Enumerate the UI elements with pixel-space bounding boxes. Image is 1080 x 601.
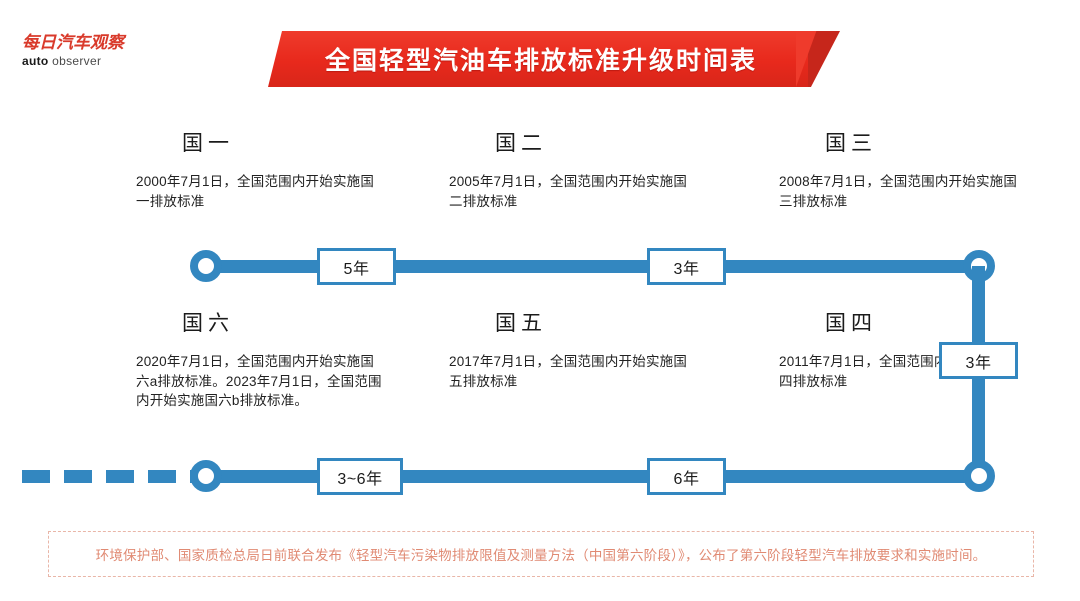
milestone-guo-yi: 国一 2000年7月1日，全国范围内开始实施国一排放标准 — [136, 127, 386, 211]
brand-logo-chinese: 每日汽车观察 — [22, 33, 152, 52]
milestone-guo-san: 国三 2008年7月1日，全国范围内开始实施国三排放标准 — [779, 127, 1029, 211]
milestone-guo-yi-title: 国一 — [136, 127, 386, 157]
interval-box-4-5: 6年 — [647, 458, 726, 495]
interval-box-3-4: 3年 — [939, 342, 1018, 379]
milestone-guo-san-body: 2008年7月1日，全国范围内开始实施国三排放标准 — [779, 172, 1029, 211]
interval-box-5-6: 3~6年 — [317, 458, 403, 495]
interval-box-2-3: 3年 — [647, 248, 726, 285]
brand-logo-english-rest: observer — [49, 54, 102, 68]
milestone-guo-wu-body: 2017年7月1日，全国范围内开始实施国五排放标准 — [449, 352, 699, 391]
milestone-guo-san-title: 国三 — [779, 127, 1029, 157]
milestone-guo-er-body: 2005年7月1日，全国范围内开始实施国二排放标准 — [449, 172, 699, 211]
footnote-box: 环境保护部、国家质检总局日前联合发布《轻型汽车污染物排放限值及测量方法（中国第六… — [48, 531, 1034, 577]
page-title: 全国轻型汽油车排放标准升级时间表 — [268, 31, 808, 87]
milestone-guo-er: 国二 2005年7月1日，全国范围内开始实施国二排放标准 — [449, 127, 699, 211]
brand-logo-english-accent: auto — [22, 54, 49, 68]
brand-logo: 每日汽车观察 auto observer — [22, 33, 152, 68]
milestone-guo-wu: 国五 2017年7月1日，全国范围内开始实施国五排放标准 — [449, 307, 699, 391]
milestone-guo-liu-body: 2020年7月1日，全国范围内开始实施国六a排放标准。2023年7月1日，全国范… — [136, 352, 386, 411]
timeline-bottom-dashed-tail — [22, 470, 194, 483]
title-banner: 全国轻型汽油车排放标准升级时间表 — [268, 31, 838, 87]
milestone-guo-wu-title: 国五 — [449, 307, 699, 337]
timeline-node-guo-yi — [190, 250, 222, 282]
infographic-page: 每日汽车观察 auto observer 全国轻型汽油车排放标准升级时间表 国一… — [0, 0, 1080, 601]
milestone-guo-si-title: 国四 — [779, 307, 1029, 337]
timeline-node-guo-liu — [190, 460, 222, 492]
milestone-guo-er-title: 国二 — [449, 127, 699, 157]
milestone-guo-liu: 国六 2020年7月1日，全国范围内开始实施国六a排放标准。2023年7月1日，… — [136, 307, 386, 411]
footnote-text: 环境保护部、国家质检总局日前联合发布《轻型汽车污染物排放限值及测量方法（中国第六… — [96, 544, 987, 564]
timeline-node-guo-si — [963, 460, 995, 492]
brand-logo-english: auto observer — [22, 54, 152, 68]
milestone-guo-liu-title: 国六 — [136, 307, 386, 337]
milestone-guo-yi-body: 2000年7月1日，全国范围内开始实施国一排放标准 — [136, 172, 386, 211]
interval-box-1-2: 5年 — [317, 248, 396, 285]
